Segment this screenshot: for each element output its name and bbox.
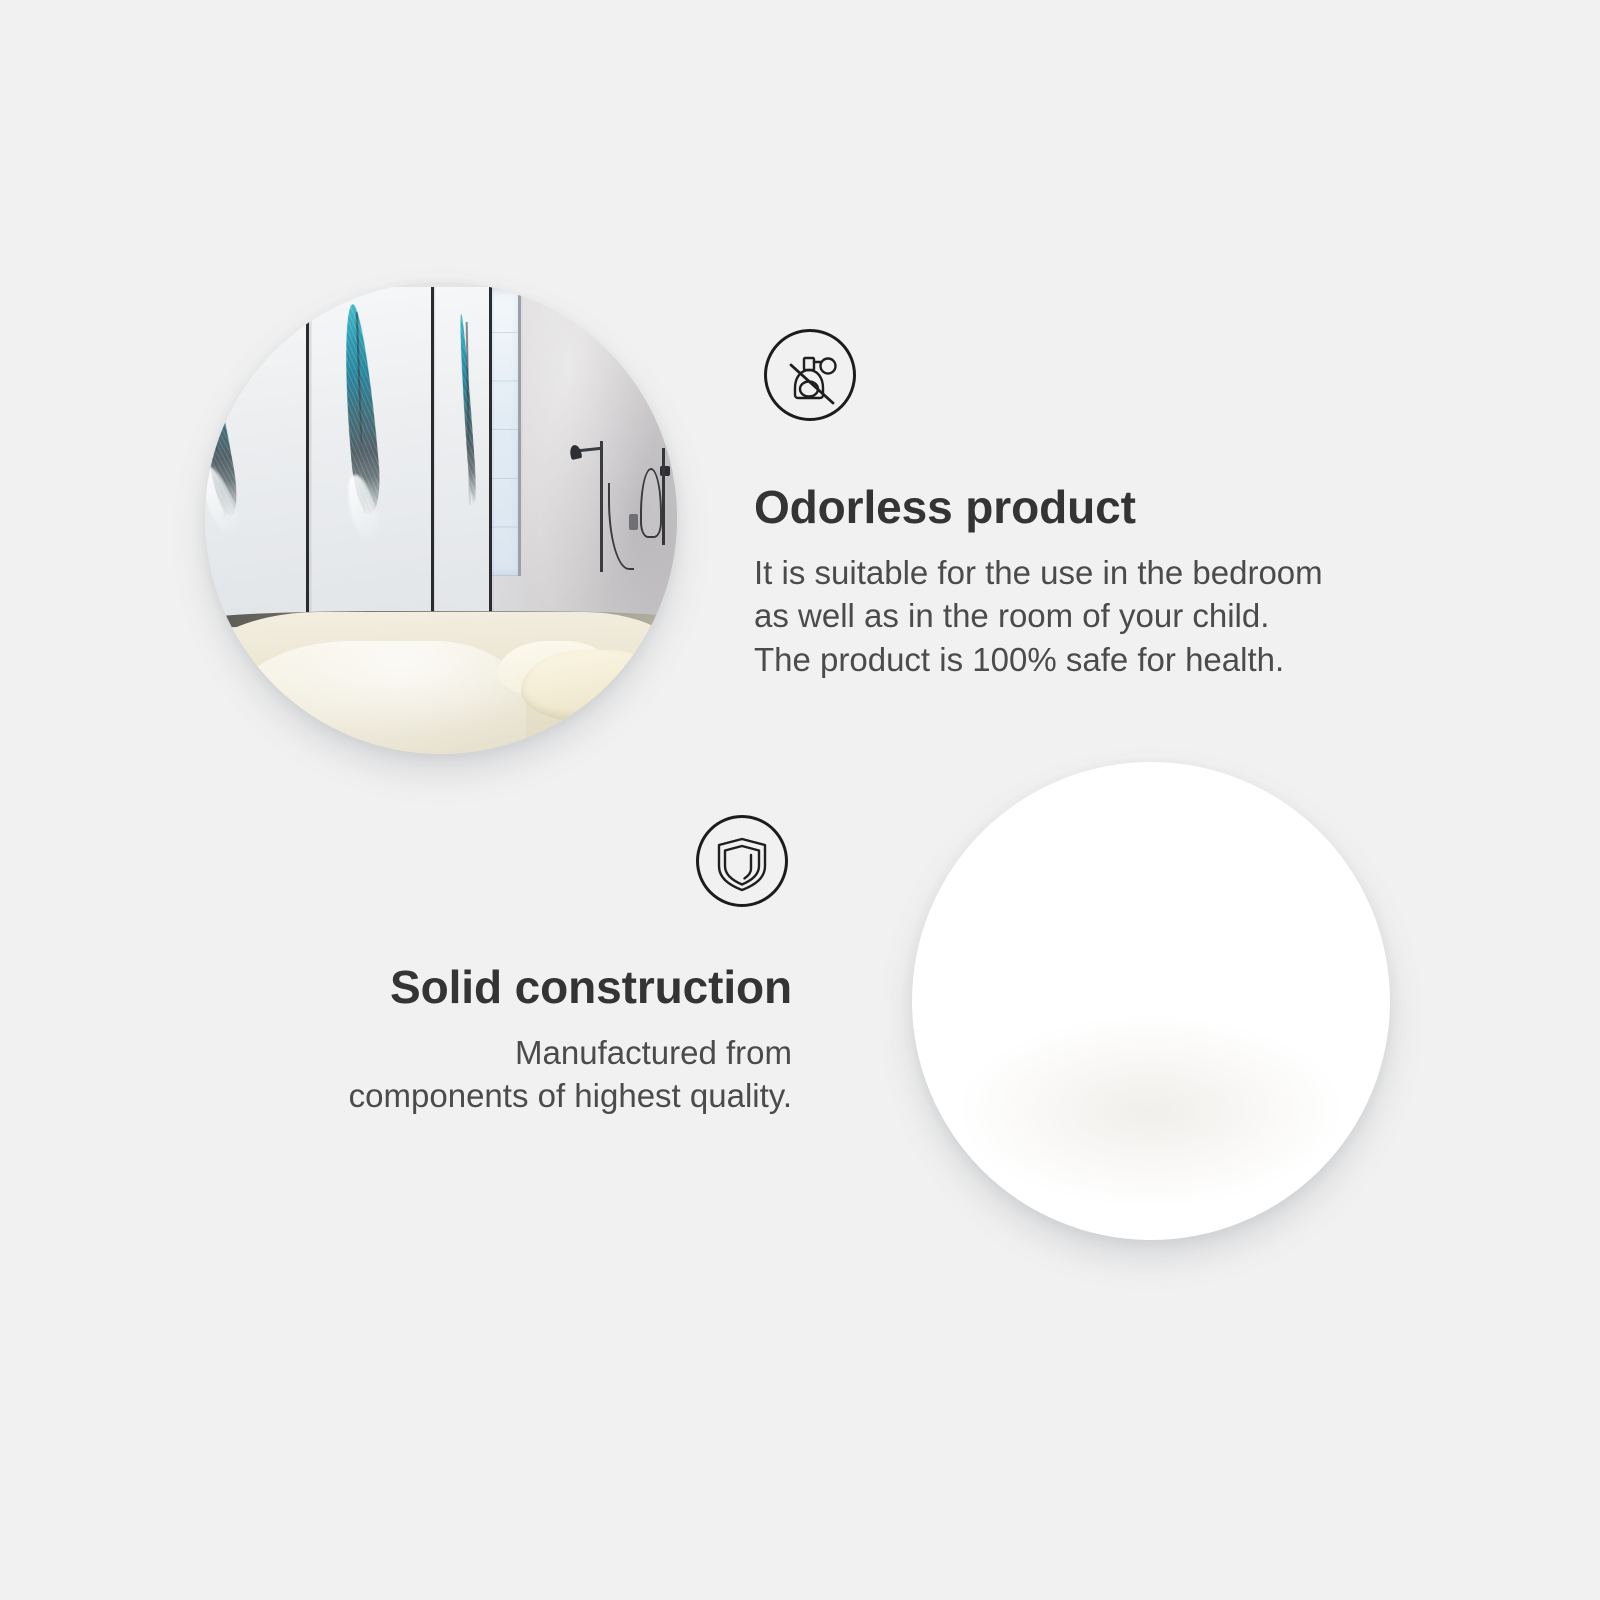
feature-image-wood-blocks: [912, 762, 1390, 1240]
panel-edge: [306, 287, 309, 627]
floor-lamp-pole: [600, 441, 603, 573]
feature-text-odorless: Odorless product It is suitable for the …: [754, 482, 1434, 682]
infographic-canvas: Odorless product It is suitable for the …: [0, 0, 1600, 1600]
panel-edge: [489, 287, 492, 627]
feather-panel-3: [435, 287, 492, 627]
feature-body-line: Manufactured from: [100, 1031, 792, 1075]
feature-body-line: components of highest quality.: [100, 1074, 792, 1118]
feather-panel-2: [312, 287, 435, 627]
wall-socket: [629, 514, 638, 529]
feather-shape: [457, 314, 477, 504]
window-frame-right: [518, 290, 521, 576]
wood-contact-shadow: [950, 1011, 1352, 1212]
feature-text-solid-construction: Solid construction Manufactured from com…: [100, 962, 792, 1118]
panel-edge: [431, 287, 434, 627]
pendant-lamp-stem: [662, 448, 665, 545]
pillow-front: [521, 650, 663, 721]
feature-heading: Solid construction: [100, 962, 792, 1013]
no-perfume-icon: [764, 329, 856, 421]
feature-body-line: The product is 100% safe for health.: [754, 638, 1434, 682]
feature-heading: Odorless product: [754, 482, 1434, 533]
feature-image-bedroom: [205, 282, 677, 754]
bedroom-scene: [205, 282, 677, 754]
feature-body-line: It is suitable for the use in the bedroo…: [754, 551, 1434, 595]
shield-icon: [696, 815, 788, 907]
pendant-lamp-cap: [660, 466, 670, 476]
feature-body-line: as well as in the room of your child.: [754, 594, 1434, 638]
wood-blocks-scene: [912, 762, 1390, 1240]
feather-panel-1: [205, 287, 309, 627]
